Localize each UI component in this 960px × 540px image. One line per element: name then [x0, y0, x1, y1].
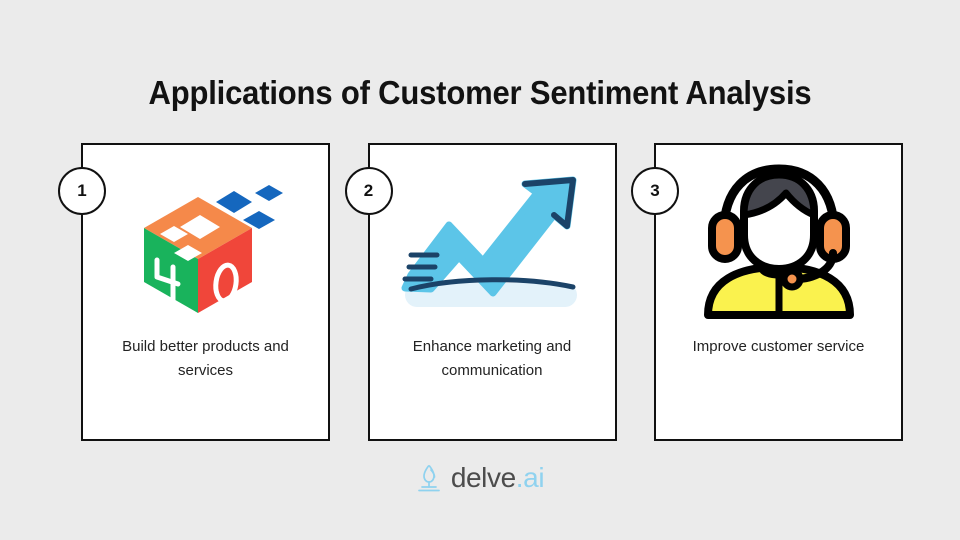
brand-name: delve: [451, 462, 516, 493]
card-caption: Build better products and services: [98, 335, 313, 382]
card-improve-customer-service[interactable]: 3: [654, 143, 903, 441]
page-title: Applications of Customer Sentiment Analy…: [29, 74, 931, 112]
card-number-badge: 2: [345, 167, 393, 215]
card-number-badge: 3: [631, 167, 679, 215]
microscope-icon: [416, 463, 442, 493]
growth-arrow-icon: [397, 163, 587, 323]
card-caption: Enhance marketing and communication: [385, 335, 600, 382]
card-build-better-products[interactable]: 1: [81, 143, 330, 441]
brand-suffix: .ai: [516, 462, 544, 493]
isometric-cube-icon: [126, 163, 286, 323]
card-illustration: [370, 145, 615, 335]
cards-row: 1: [81, 143, 903, 441]
card-illustration: [83, 145, 328, 335]
card-number-badge: 1: [58, 167, 106, 215]
card-caption: Improve customer service: [671, 335, 886, 359]
support-agent-headset-icon: [694, 163, 864, 323]
brand-wordmark: delve.ai: [451, 462, 544, 494]
card-enhance-marketing[interactable]: 2: [368, 143, 617, 441]
brand-logo[interactable]: delve.ai: [0, 462, 960, 494]
card-illustration: [656, 145, 901, 335]
infographic-canvas: Applications of Customer Sentiment Analy…: [0, 0, 960, 540]
